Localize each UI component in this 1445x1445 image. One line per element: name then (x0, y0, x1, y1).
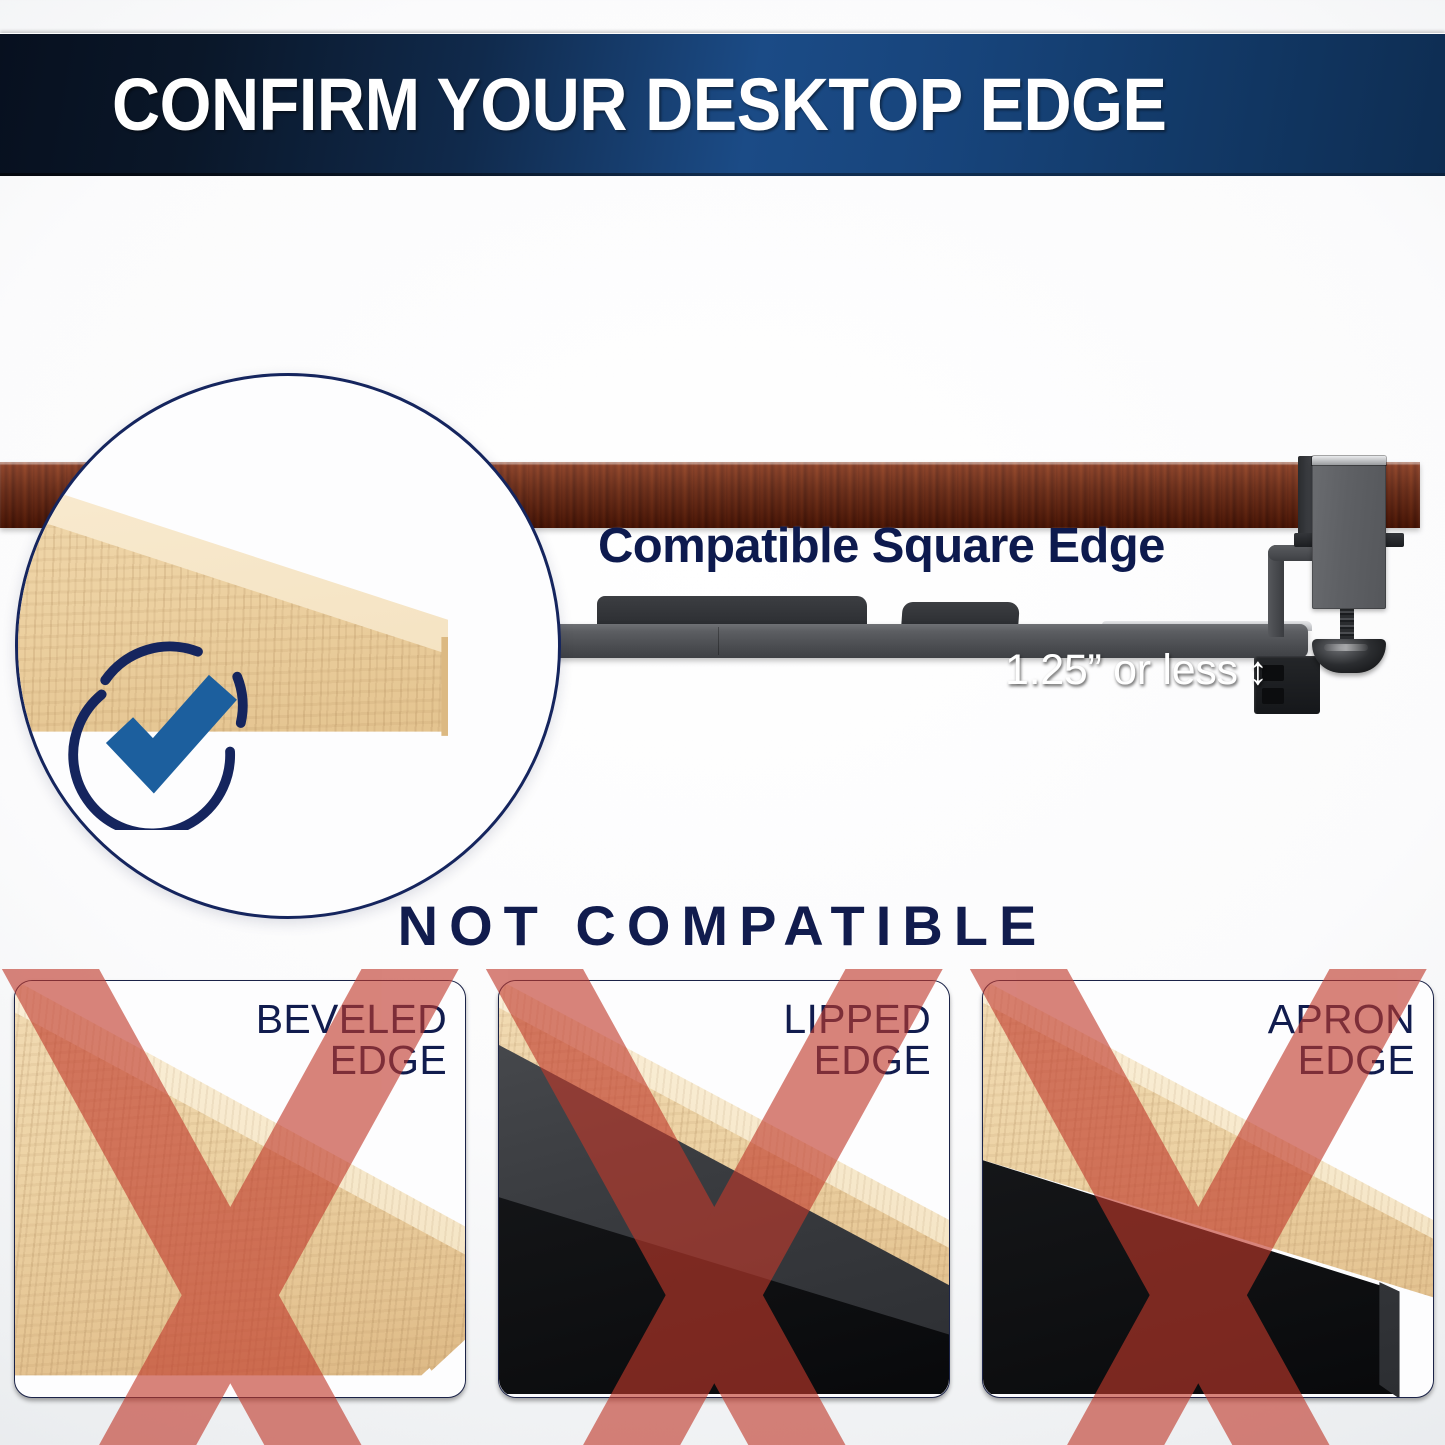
thickness-callout: 1.25” or less ↕ (1005, 646, 1267, 695)
desk-clamp-assembly (1268, 451, 1428, 701)
clamp-plate (1312, 461, 1386, 609)
card-label-apron: APRON EDGE (1268, 999, 1415, 1081)
card-lipped-edge: LIPPED EDGE (498, 980, 950, 1398)
page-title: CONFIRM YOUR DESKTOP EDGE (112, 62, 1167, 147)
clamp-plate-cap (1312, 456, 1386, 465)
check-circle-icon (66, 616, 280, 830)
card-label-lipped: LIPPED EDGE (783, 999, 931, 1081)
thickness-value: 1.25” or less (1005, 646, 1238, 695)
card-apron-edge: APRON EDGE (982, 980, 1434, 1398)
card-label-beveled: BEVELED EDGE (256, 999, 447, 1081)
not-compatible-cards: BEVELED EDGE LIPPED EDGE (14, 980, 1434, 1398)
vertical-double-arrow-icon: ↕ (1248, 651, 1268, 691)
clamp-knob-highlight (1324, 644, 1368, 651)
magnifier-callout (15, 373, 561, 919)
compatible-edge-title: Compatible Square Edge (598, 518, 1298, 574)
header-banner: CONFIRM YOUR DESKTOP EDGE (0, 33, 1445, 176)
compatible-edge-illustration: Compatible Square Edge 1.25” or less ↕ (0, 176, 1445, 876)
card-beveled-edge: BEVELED EDGE (14, 980, 466, 1398)
